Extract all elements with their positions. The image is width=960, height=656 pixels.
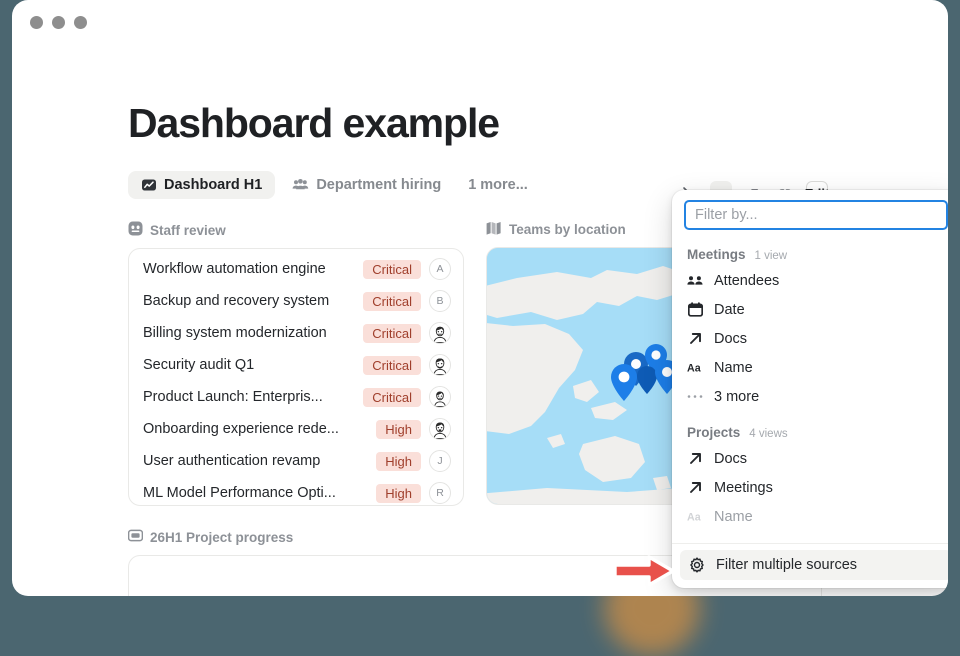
- people-group-icon: [687, 274, 703, 288]
- app-window: Dashboard example Dashboard H1: [12, 0, 948, 596]
- row-title: ML Model Performance Opti...: [143, 485, 368, 501]
- table-row[interactable]: Workflow automation engine Critical A: [129, 253, 463, 285]
- gear-icon: [689, 557, 705, 573]
- row-title: Onboarding experience rede...: [143, 421, 368, 437]
- popover-item-label: Name: [714, 509, 753, 525]
- avatar: [429, 322, 451, 344]
- tab-label: Department hiring: [316, 177, 441, 193]
- avatar: [429, 354, 451, 376]
- table-row[interactable]: ML Model Performance Opti... High R: [129, 477, 463, 506]
- popover-item-label: Docs: [714, 331, 747, 347]
- group-meta: 4 views: [749, 428, 787, 440]
- arrow-up-right-icon: [687, 480, 703, 495]
- arrow-up-right-icon: [687, 331, 703, 346]
- search-input[interactable]: [695, 207, 937, 223]
- text-aa-icon: Aa: [687, 361, 703, 374]
- row-title: User authentication revamp: [143, 453, 368, 469]
- page-title: Dashboard example: [128, 100, 948, 147]
- avatar: [429, 418, 451, 440]
- widget-heading-label: Teams by location: [509, 222, 626, 237]
- maximize-button[interactable]: [74, 16, 87, 29]
- row-title: Product Launch: Enterpris...: [143, 389, 355, 405]
- group-name: Meetings: [687, 247, 746, 262]
- avatar: J: [429, 450, 451, 472]
- filter-search-field[interactable]: [684, 200, 948, 230]
- popover-item-docs[interactable]: Docs: [672, 324, 948, 353]
- table-row[interactable]: Product Launch: Enterpris... Critical: [129, 381, 463, 413]
- status-badge: High: [376, 420, 421, 439]
- row-title: Billing system modernization: [143, 325, 355, 341]
- table-row[interactable]: Backup and recovery system Critical B: [129, 285, 463, 317]
- row-title: Workflow automation engine: [143, 261, 355, 277]
- map-icon: [486, 221, 502, 238]
- popover-item-attendees[interactable]: Attendees: [672, 266, 948, 295]
- tab-dashboard-h1[interactable]: Dashboard H1: [128, 171, 275, 199]
- widget-heading-label: 26H1 Project progress: [150, 530, 293, 545]
- tab-label: Dashboard H1: [164, 177, 262, 193]
- svg-text:Aa: Aa: [687, 512, 701, 524]
- popover-footer: Filter multiple sources: [672, 543, 948, 588]
- face-avatar-icon: [128, 221, 143, 239]
- popover-item-label: Docs: [714, 451, 747, 467]
- group-meta: 1 view: [755, 250, 788, 262]
- popover-item-label: Date: [714, 302, 745, 318]
- popover-item-label: Meetings: [714, 480, 773, 496]
- avatar: [429, 386, 451, 408]
- row-title: Backup and recovery system: [143, 293, 355, 309]
- table-row[interactable]: Onboarding experience rede... High: [129, 413, 463, 445]
- popover-item-date[interactable]: Date: [672, 295, 948, 324]
- filter-source-popover: Meetings 1 view Attendees: [672, 190, 948, 588]
- calendar-icon: [687, 302, 703, 317]
- close-button[interactable]: [30, 16, 43, 29]
- text-aa-icon: Aa: [687, 510, 703, 523]
- annotation-arrow: [613, 554, 675, 588]
- row-title: Security audit Q1: [143, 357, 355, 373]
- svg-text:Aa: Aa: [687, 363, 701, 375]
- popover-item-label: Name: [714, 360, 753, 376]
- filter-multiple-sources-button[interactable]: Filter multiple sources: [680, 550, 948, 580]
- window-titlebar: [12, 0, 948, 44]
- popover-item-label: 3 more: [714, 389, 759, 405]
- staff-review-card: Workflow automation engine Critical A Ba…: [128, 248, 464, 506]
- group-name: Projects: [687, 425, 740, 440]
- widget-heading: Staff review: [128, 221, 464, 239]
- status-badge: High: [376, 452, 421, 471]
- group-header-meetings: Meetings 1 view: [672, 242, 948, 266]
- table-row[interactable]: User authentication revamp High J: [129, 445, 463, 477]
- popover-list: Meetings 1 view Attendees: [672, 230, 948, 543]
- arrow-up-right-icon: [687, 451, 703, 466]
- widget-heading-label: Staff review: [150, 223, 226, 238]
- popover-item-projects-meetings[interactable]: Meetings: [672, 473, 948, 502]
- footer-item-label: Filter multiple sources: [716, 557, 857, 573]
- popover-item-name[interactable]: Aa Name: [672, 353, 948, 382]
- table-row[interactable]: Billing system modernization Critical: [129, 317, 463, 349]
- popover-item-projects-docs[interactable]: Docs: [672, 444, 948, 473]
- widget-staff-review: Staff review Workflow automation engine …: [128, 221, 464, 506]
- minimize-button[interactable]: [52, 16, 65, 29]
- popover-item-projects-name[interactable]: Aa Name: [672, 502, 948, 531]
- avatar: B: [429, 290, 451, 312]
- tabs-more-button[interactable]: 1 more...: [458, 171, 538, 199]
- avatar: R: [429, 482, 451, 504]
- table-row[interactable]: Security audit Q1 Critical: [129, 349, 463, 381]
- status-badge: Critical: [363, 388, 421, 407]
- tab-department-hiring[interactable]: Department hiring: [279, 171, 454, 199]
- progress-bar-icon: [128, 528, 143, 546]
- status-badge: Critical: [363, 292, 421, 311]
- status-badge: Critical: [363, 260, 421, 279]
- avatar: A: [429, 258, 451, 280]
- group-header-projects: Projects 4 views: [672, 420, 948, 444]
- popover-item-label: Attendees: [714, 273, 779, 289]
- line-chart-icon: [141, 177, 157, 193]
- popover-item-3-more[interactable]: 3 more: [672, 382, 948, 411]
- ellipsis-icon: [687, 394, 703, 399]
- status-badge: Critical: [363, 356, 421, 375]
- status-badge: High: [376, 484, 421, 503]
- people-group-icon: [292, 177, 309, 193]
- status-badge: Critical: [363, 324, 421, 343]
